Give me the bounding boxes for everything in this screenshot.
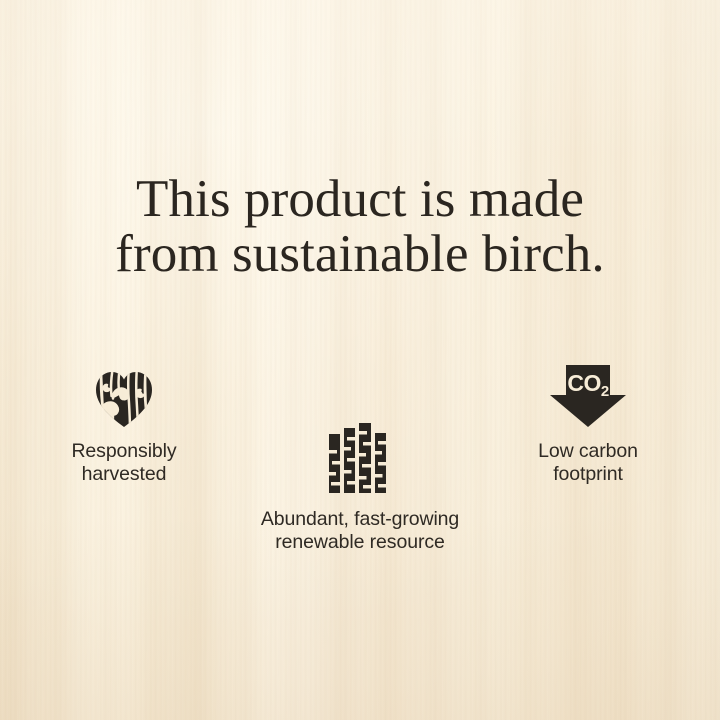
feature-caption: Abundant, fast-growing renewable resourc… xyxy=(249,508,471,554)
caption-line-1: Low carbon xyxy=(478,440,698,463)
co2-down-arrow-icon-wrap: CO2 xyxy=(478,362,698,428)
product-info-panel: This product is made from sustainable bi… xyxy=(0,0,720,720)
feature-caption: Responsibly harvested xyxy=(14,440,234,486)
birch-trunks-icon xyxy=(328,422,392,494)
feature-responsibly-harvested: Responsibly harvested xyxy=(14,362,234,486)
feature-low-carbon-footprint: CO2 Low carbon footprint xyxy=(478,362,698,486)
headline-line-1: This product is made xyxy=(0,172,720,227)
birch-trunks-icon-wrap xyxy=(249,418,471,494)
feature-renewable-resource: Abundant, fast-growing renewable resourc… xyxy=(249,418,471,554)
co2-down-arrow-icon: CO2 xyxy=(549,364,627,428)
caption-line-1: Responsibly xyxy=(14,440,234,463)
caption-line-1: Abundant, fast-growing xyxy=(249,508,471,531)
headline-line-2: from sustainable birch. xyxy=(0,227,720,282)
caption-line-2: footprint xyxy=(478,463,698,486)
wood-grain-heart-icon xyxy=(94,370,154,428)
wood-grain-heart-icon-wrap xyxy=(14,362,234,428)
caption-line-2: renewable resource xyxy=(249,531,471,554)
headline: This product is made from sustainable bi… xyxy=(0,172,720,282)
caption-line-2: harvested xyxy=(14,463,234,486)
panel-content: This product is made from sustainable bi… xyxy=(0,0,720,720)
feature-caption: Low carbon footprint xyxy=(478,440,698,486)
